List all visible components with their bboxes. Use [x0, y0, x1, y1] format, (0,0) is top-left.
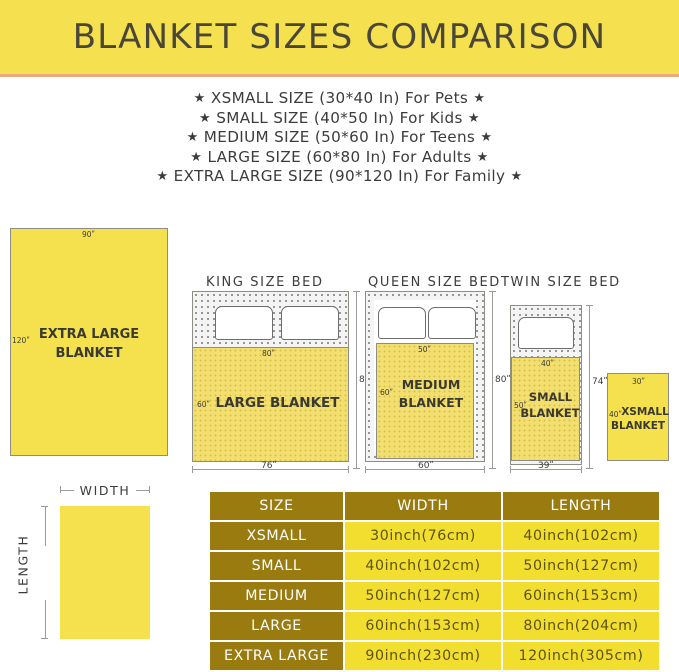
twin-length-dim-line: [589, 305, 590, 469]
star-icon: ★: [187, 130, 199, 145]
key-length-dim-line-bottom: [45, 600, 46, 639]
medium-blanket-label: MEDIUM: [382, 377, 480, 392]
page-title: BLANKET SIZES COMPARISON: [0, 17, 679, 57]
cell-width: 90inch(230cm): [345, 642, 501, 670]
key-width-dim-line-right: [136, 490, 150, 491]
cell-size: LARGE: [210, 612, 343, 640]
king-bed-width-dim: 76ʺ: [261, 461, 277, 471]
cell-size: XSMALL: [210, 522, 343, 550]
king-bed-title: KING SIZE BED: [206, 275, 324, 290]
small-blanket-label-2: BLANKET: [512, 406, 588, 420]
table-row: XSMALL 30inch(76cm) 40inch(102cm): [210, 522, 659, 550]
list-item: ★ XSMALL SIZE (30*40 In) For Pets ★: [0, 89, 679, 109]
bullet-text: EXTRA LARGE SIZE (90*120 In) For Family: [174, 167, 506, 185]
xsmall-blanket-label: XSMALL: [619, 406, 671, 418]
cell-size: SMALL: [210, 552, 343, 580]
cell-length: 40inch(102cm): [503, 522, 659, 550]
twin-length-tick-top: [586, 305, 593, 306]
bullet-text: XSMALL SIZE (30*40 In) For Pets: [211, 89, 468, 107]
twin-bed-title: TWIN SIZE BED: [501, 275, 621, 290]
xsmall-width-dim: 30ʺ: [632, 377, 645, 386]
key-width-tick-right: [149, 486, 150, 493]
key-length-dim-line: [45, 506, 46, 546]
cell-size: EXTRA LARGE: [210, 642, 343, 670]
table-row: SMALL 40inch(102cm) 50inch(127cm): [210, 552, 659, 580]
key-blanket-shape: [60, 506, 150, 639]
king-length-tick-top: [353, 291, 360, 292]
star-icon: ★: [511, 169, 523, 184]
key-width-dim-line: [60, 490, 74, 491]
cell-length: 60inch(153cm): [503, 582, 659, 610]
cell-width: 50inch(127cm): [345, 582, 501, 610]
queen-pillow-left: [378, 307, 426, 339]
column-header-length: LENGTH: [503, 492, 659, 520]
cell-length: 50inch(127cm): [503, 552, 659, 580]
size-chart-table: SIZE WIDTH LENGTH XSMALL 30inch(76cm) 40…: [208, 490, 661, 672]
table-row: MEDIUM 50inch(127cm) 60inch(153cm): [210, 582, 659, 610]
list-item: ★ SMALL SIZE (40*50 In) For Kids ★: [0, 109, 679, 129]
extra-large-width-dim: 90ʺ: [82, 230, 95, 239]
small-blanket-label: SMALL: [516, 390, 585, 404]
king-pillow-right: [281, 306, 339, 340]
list-item: ★ MEDIUM SIZE (50*60 In) For Teens ★: [0, 128, 679, 148]
king-length-tick-bottom: [353, 468, 360, 469]
large-blanket-label: LARGE BLANKET: [206, 395, 349, 411]
twin-length-tick-bottom: [586, 468, 593, 469]
queen-length-tick-top: [489, 291, 496, 292]
key-length-tick-top: [41, 506, 48, 507]
cell-size: MEDIUM: [210, 582, 343, 610]
queen-length-tick-bottom: [489, 468, 496, 469]
star-icon: ★: [199, 111, 211, 126]
table-header-row: SIZE WIDTH LENGTH: [210, 492, 659, 520]
queen-pillow-right: [428, 307, 476, 339]
queen-blanket-width-dim: 50ʺ: [418, 345, 431, 354]
king-blanket-width-dim: 80ʺ: [262, 349, 275, 358]
cell-width: 30inch(76cm): [345, 522, 501, 550]
twin-width-tick-left: [510, 466, 511, 473]
extra-large-blanket-shape: [10, 228, 168, 456]
cell-width: 40inch(102cm): [345, 552, 501, 580]
blanket-size-diagram: 90ʺ 120ʺ EXTRA LARGE BLANKET KING SIZE B…: [0, 205, 679, 480]
twin-pillow: [518, 317, 574, 349]
bullet-text: SMALL SIZE (40*50 In) For Kids: [216, 109, 462, 127]
extra-large-blanket-label-2: BLANKET: [10, 346, 168, 361]
twin-bed-width-dim: 39ʺ: [538, 461, 554, 471]
header-divider: [0, 74, 679, 77]
column-header-width: WIDTH: [345, 492, 501, 520]
table-row: LARGE 60inch(153cm) 80inch(204cm): [210, 612, 659, 640]
width-length-key: WIDTH LENGTH: [0, 480, 205, 667]
king-width-tick-right: [348, 466, 349, 473]
twin-bed-length-dim: 74ʺ: [592, 377, 608, 387]
xsmall-blanket-label-2: BLANKET: [607, 420, 669, 432]
bullet-text: MEDIUM SIZE (50*60 In) For Teens: [204, 128, 475, 146]
bullet-text: LARGE SIZE (60*80 In) For Adults: [208, 148, 472, 166]
key-length-tick-bottom: [41, 638, 48, 639]
king-width-tick-left: [192, 466, 193, 473]
size-bullet-list: ★ XSMALL SIZE (30*40 In) For Pets ★ ★ SM…: [0, 89, 679, 187]
key-length-label: LENGTH: [16, 520, 31, 610]
star-icon: ★: [473, 91, 485, 106]
cell-width: 60inch(153cm): [345, 612, 501, 640]
queen-width-tick-left: [365, 466, 366, 473]
column-header-size: SIZE: [210, 492, 343, 520]
queen-width-tick-right: [484, 466, 485, 473]
cell-length: 120inch(305cm): [503, 642, 659, 670]
extra-large-blanket-label: EXTRA LARGE: [10, 327, 168, 342]
cell-length: 80inch(204cm): [503, 612, 659, 640]
key-width-tick-left: [60, 486, 61, 493]
star-icon: ★: [480, 130, 492, 145]
king-length-dim-line: [356, 291, 357, 469]
star-icon: ★: [190, 150, 202, 165]
star-icon: ★: [156, 169, 168, 184]
queen-bed-title: QUEEN SIZE BED: [368, 275, 501, 290]
medium-blanket-label-2: BLANKET: [382, 395, 480, 410]
star-icon: ★: [477, 150, 489, 165]
twin-blanket-width-dim: 40ʺ: [541, 359, 554, 368]
star-icon: ★: [468, 111, 480, 126]
list-item: ★ EXTRA LARGE SIZE (90*120 In) For Famil…: [0, 167, 679, 187]
queen-length-dim-line: [492, 291, 493, 469]
queen-bed-length-dim: 80ʺ: [495, 375, 511, 385]
table-row: EXTRA LARGE 90inch(230cm) 120inch(305cm): [210, 642, 659, 670]
star-icon: ★: [194, 91, 206, 106]
list-item: ★ LARGE SIZE (60*80 In) For Adults ★: [0, 148, 679, 168]
king-pillow-left: [215, 306, 273, 340]
queen-bed-width-dim: 60ʺ: [418, 461, 434, 471]
twin-width-tick-right: [581, 466, 582, 473]
